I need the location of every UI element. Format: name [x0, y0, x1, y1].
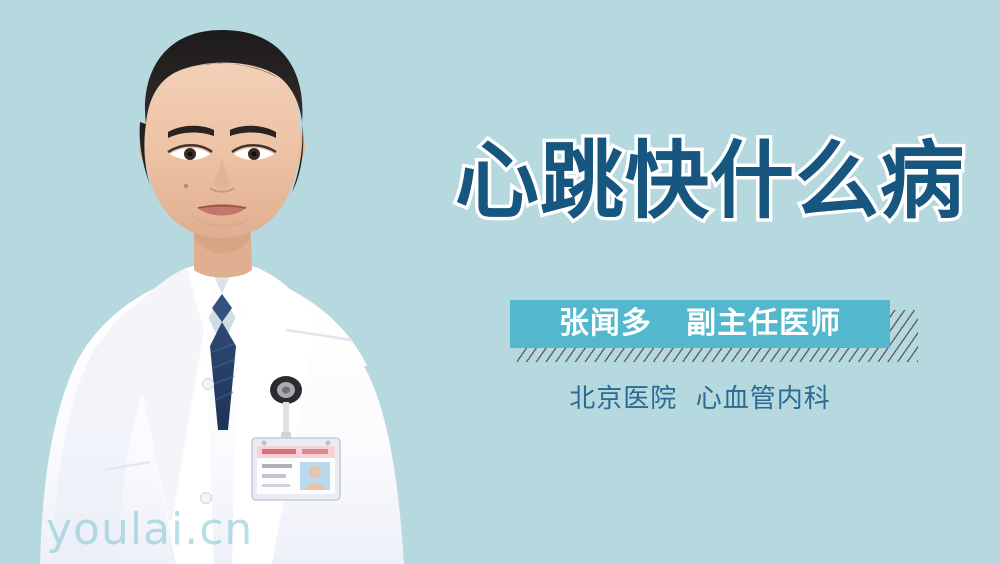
doctor-name-banner-fill: 张闻多 副主任医师: [510, 300, 890, 348]
doctor-name-and-rank: 张闻多 副主任医师: [559, 309, 841, 339]
site-watermark: youlai.cn: [46, 504, 253, 555]
doctor-portrait-photo: [0, 0, 470, 564]
page-title: 心跳快什么病: [455, 133, 975, 229]
doctor-name-banner: 张闻多 副主任医师: [510, 300, 918, 362]
video-cover-card: 心跳快什么病 心跳快什么病 张闻多 副主任医师 北京医院 心血管内科 youla…: [0, 0, 1000, 564]
hospital-and-department: 北京医院 心血管内科: [510, 378, 890, 415]
